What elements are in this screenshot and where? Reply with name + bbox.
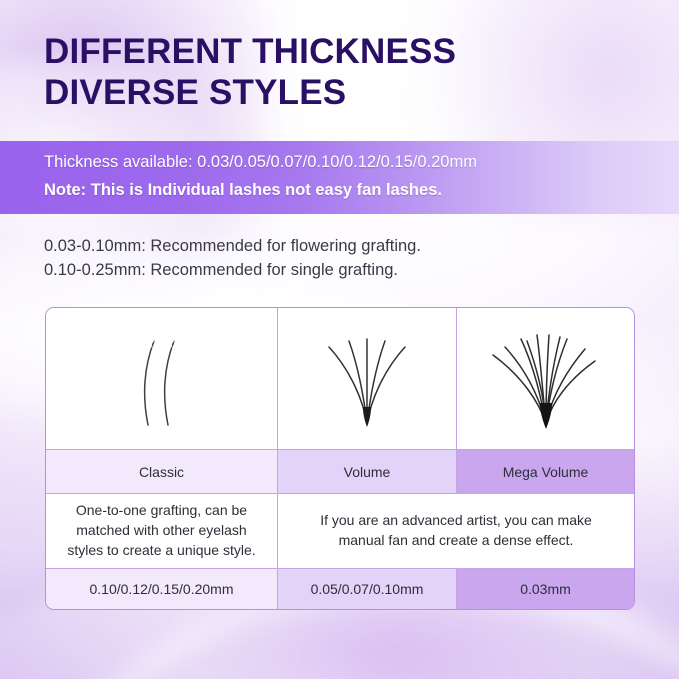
classic-lashes-icon bbox=[102, 319, 222, 439]
description-cell-classic: One-to-one grafting, can be matched with… bbox=[46, 493, 278, 568]
table-row-headers: Classic Volume Mega Volume bbox=[46, 449, 634, 493]
volume-fan-icon bbox=[307, 319, 427, 439]
mega-volume-fan-icon bbox=[481, 319, 611, 439]
table-row-descriptions: One-to-one grafting, can be matched with… bbox=[46, 493, 634, 568]
header-cell-mega-volume: Mega Volume bbox=[457, 449, 634, 493]
page-title: DIFFERENT THICKNESS DIVERSE STYLES bbox=[44, 32, 644, 114]
description-text-classic: One-to-one grafting, can be matched with… bbox=[55, 501, 267, 561]
description-cell-volume-merged: If you are an advanced artist, you can m… bbox=[278, 493, 634, 568]
banner-thickness-text: Thickness available: 0.03/0.05/0.07/0.10… bbox=[44, 153, 477, 172]
header-label-classic: Classic bbox=[139, 464, 184, 480]
illustration-cell-mega-volume bbox=[457, 308, 634, 449]
spec-cell-volume: 0.05/0.07/0.10mm bbox=[278, 568, 457, 609]
table-row-illustrations bbox=[46, 308, 634, 449]
spec-text-volume: 0.05/0.07/0.10mm bbox=[311, 581, 424, 597]
header-label-mega-volume: Mega Volume bbox=[503, 464, 589, 480]
spec-text-classic: 0.10/0.12/0.15/0.20mm bbox=[90, 581, 234, 597]
spec-text-mega-volume: 0.03mm bbox=[520, 581, 571, 597]
recommendation-text: 0.03-0.10mm: Recommended for flowering g… bbox=[44, 234, 421, 283]
header-label-volume: Volume bbox=[344, 464, 391, 480]
infographic-page: DIFFERENT THICKNESS DIVERSE STYLES Thick… bbox=[0, 0, 679, 679]
table-row-specs: 0.10/0.12/0.15/0.20mm 0.05/0.07/0.10mm 0… bbox=[46, 568, 634, 609]
spec-cell-mega-volume: 0.03mm bbox=[457, 568, 634, 609]
content-layer: DIFFERENT THICKNESS DIVERSE STYLES Thick… bbox=[0, 0, 679, 679]
description-text-volume: If you are an advanced artist, you can m… bbox=[308, 511, 604, 551]
banner-note-text: Note: This is Individual lashes not easy… bbox=[44, 181, 442, 200]
thickness-banner: Thickness available: 0.03/0.05/0.07/0.10… bbox=[0, 141, 679, 214]
illustration-cell-volume bbox=[278, 308, 457, 449]
header-cell-volume: Volume bbox=[278, 449, 457, 493]
spec-cell-classic: 0.10/0.12/0.15/0.20mm bbox=[46, 568, 278, 609]
lash-style-table: Classic Volume Mega Volume One-to-one gr… bbox=[45, 307, 635, 610]
header-cell-classic: Classic bbox=[46, 449, 278, 493]
illustration-cell-classic bbox=[46, 308, 278, 449]
